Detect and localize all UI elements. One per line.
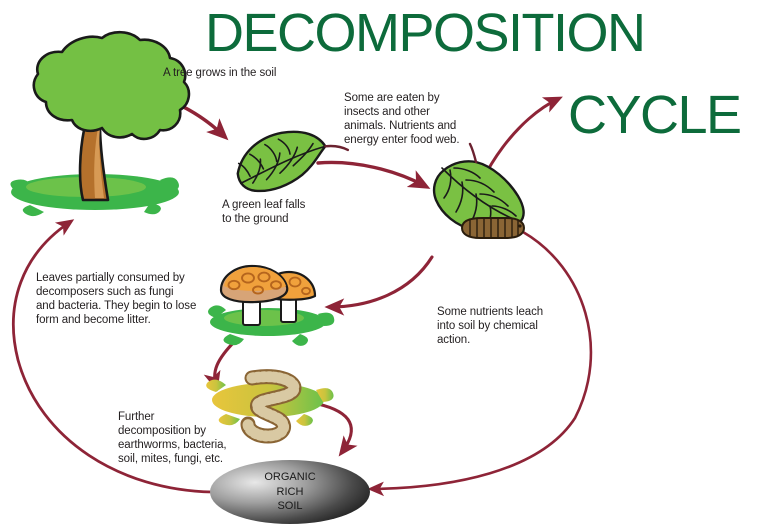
arrow-mushrooms-to-worm (215, 340, 236, 386)
label-tree-grows: A tree grows in the soil (163, 66, 333, 80)
leaf-with-caterpillar-icon (434, 144, 524, 238)
label-leaf-falls: A green leaf falls to the ground (222, 198, 352, 226)
label-eaten-by-insects: Some are eaten by insects and other anim… (344, 91, 474, 147)
arrow-right-arc-to-soil (372, 232, 591, 489)
caterpillar-body (462, 218, 524, 238)
decomposition-cycle-diagram: DECOMPOSITION CYCLE A tree grows in the … (0, 0, 765, 525)
diagram-artwork (0, 0, 765, 525)
label-leaves-consumed: Leaves partially consumed by decomposers… (36, 271, 211, 327)
arrow-leaf-to-eaten-leaf (318, 162, 425, 186)
arrow-leach-to-mushrooms (330, 257, 432, 307)
tree-canopy (34, 32, 189, 139)
caterpillar-eye (518, 224, 521, 227)
mushroom-cluster-icon (208, 266, 334, 346)
caterpillar-icon (462, 218, 524, 238)
tree-icon (10, 32, 188, 216)
label-organic-rich-soil: ORGANIC RICH SOIL (230, 470, 350, 514)
green-leaf-icon (234, 126, 351, 193)
label-nutrients-leach: Some nutrients leach into soil by chemic… (437, 305, 577, 347)
label-further-decomposition: Further decomposition by earthworms, bac… (118, 410, 248, 466)
page-title-line1: DECOMPOSITION (205, 2, 645, 64)
arrow-worm-to-soil (318, 404, 351, 452)
green-leaf-blade (234, 128, 329, 193)
page-title-line2: CYCLE (568, 84, 741, 146)
